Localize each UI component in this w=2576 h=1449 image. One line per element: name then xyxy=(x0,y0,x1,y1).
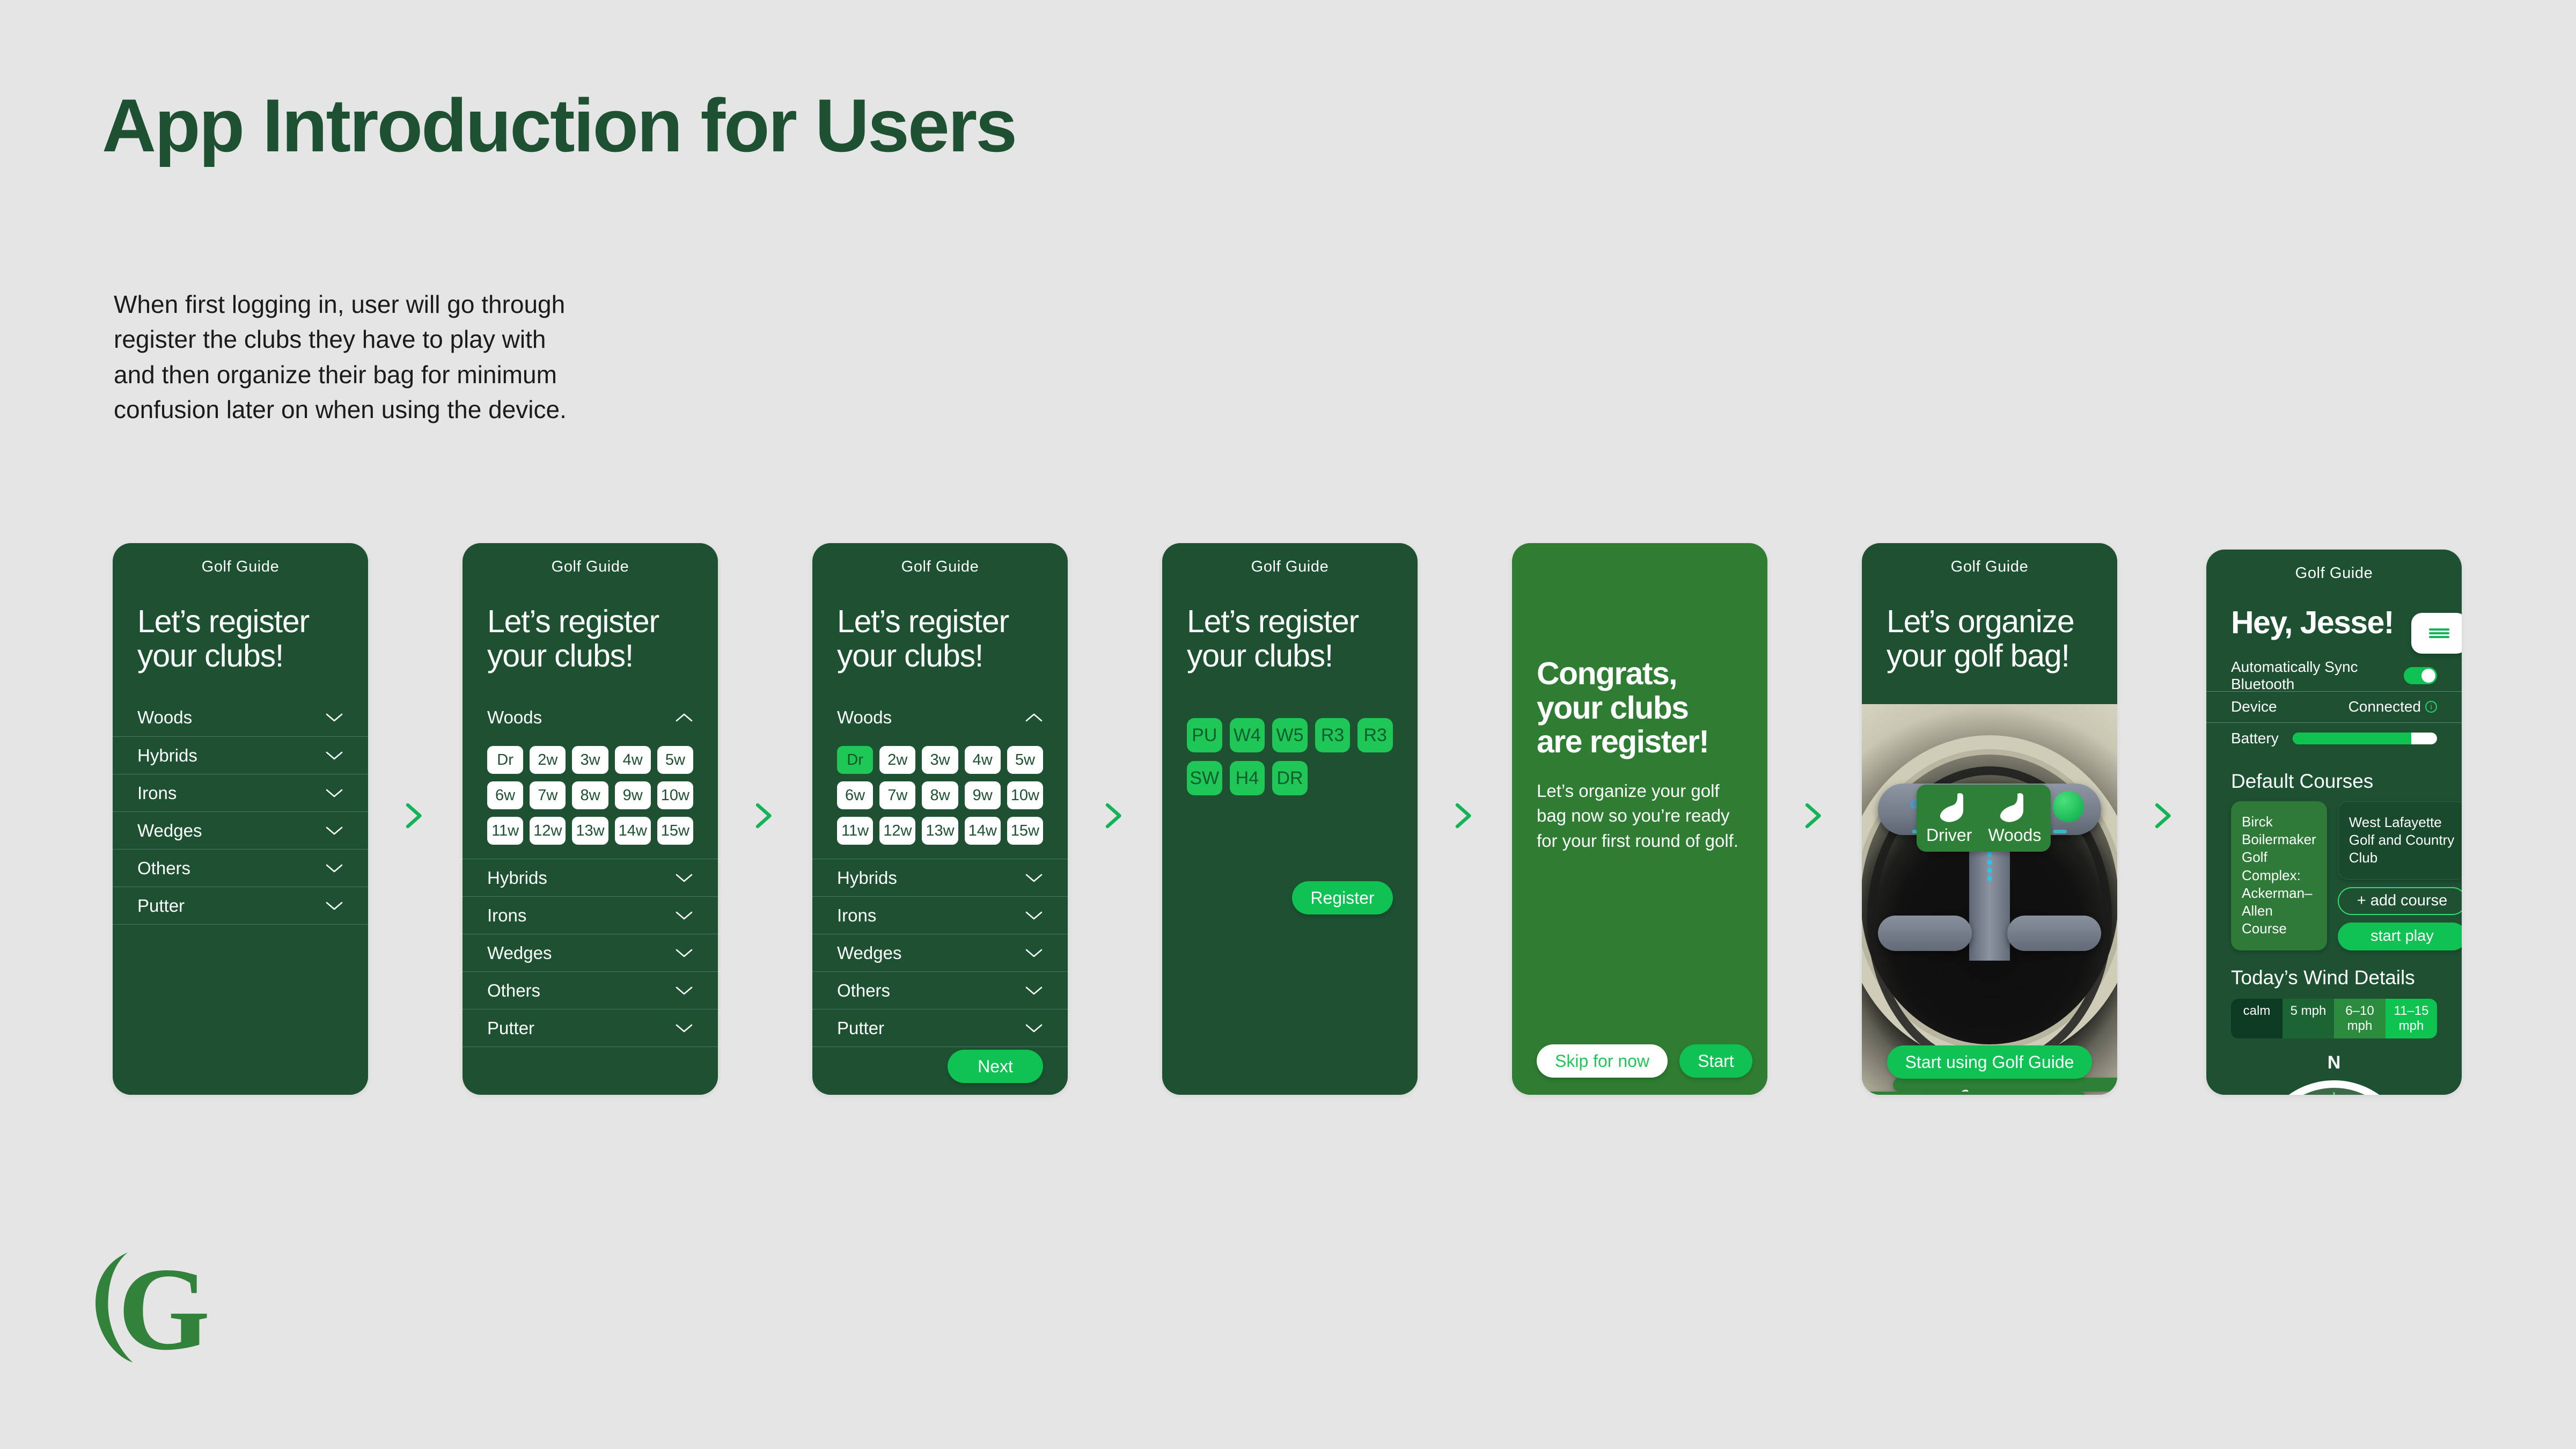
add-course-button[interactable]: + add course xyxy=(2338,887,2462,915)
club-chip-7w[interactable]: 7w xyxy=(879,781,915,809)
club-chip-11w[interactable]: 11w xyxy=(487,817,523,845)
club-chip-12w[interactable]: 12w xyxy=(530,817,566,845)
accordion-item-putter[interactable]: Putter xyxy=(812,1009,1068,1046)
wind-scale-segment: 11–15 mph xyxy=(2386,999,2437,1038)
chevron-down-icon[interactable] xyxy=(675,985,693,996)
heading-line-3: are register! xyxy=(1537,725,1743,759)
chevron-down-icon[interactable] xyxy=(675,910,693,921)
accordion-item-putter[interactable]: Putter xyxy=(463,1009,718,1046)
row-label: Device xyxy=(2231,698,2277,715)
accordion-item-irons[interactable]: Irons xyxy=(463,896,718,934)
flow-arrow-1 xyxy=(397,800,429,832)
accordion-label: Woods xyxy=(837,707,892,728)
club-chip-4w[interactable]: 4w xyxy=(965,746,1001,774)
woods-chip-grid: Dr2w3w4w5w6w7w8w9w10w11w12w13w14w15w xyxy=(812,736,1068,859)
course-card-secondary[interactable]: West Lafayette Golf and Country Club xyxy=(2338,801,2462,880)
selected-club-chip[interactable]: R3 xyxy=(1357,718,1393,752)
club-category-accordion: Woods Dr2w3w4w5w6w7w8w9w10w11w12w13w14w1… xyxy=(812,699,1068,1051)
heading-line-1: Congrats, xyxy=(1537,657,1743,691)
screen-heading: Let’s register your clubs! xyxy=(1162,576,1418,673)
device-settings-list: Automatically Sync Bluetooth Device Conn… xyxy=(2206,661,2462,754)
club-chip-2w[interactable]: 2w xyxy=(530,746,566,774)
heading-line-1: Let’s register xyxy=(837,605,1043,639)
accordion-divider xyxy=(463,1046,718,1051)
intro-paragraph: When first logging in, user will go thro… xyxy=(114,287,650,427)
flow-arrow-6 xyxy=(2146,800,2178,832)
accordion-item-woods[interactable]: Woods xyxy=(113,699,368,736)
club-chip-14w[interactable]: 14w xyxy=(615,817,651,845)
chevron-down-icon[interactable] xyxy=(325,712,343,723)
selected-club-chip[interactable]: W4 xyxy=(1230,718,1265,752)
default-courses-title: Default Courses xyxy=(2206,754,2462,793)
course-card-primary[interactable]: Birck Boilermaker Golf Complex: Ackerman… xyxy=(2231,801,2327,950)
default-courses-list: Birck Boilermaker Golf Complex: Ackerman… xyxy=(2206,793,2462,950)
club-chip-11w[interactable]: 11w xyxy=(837,817,873,845)
screen-heading: Congrats, your clubs are register! xyxy=(1512,543,1767,759)
screen-dashboard: Golf Guide Hey, Jesse! Automatically Syn… xyxy=(2206,550,2462,1095)
selected-club-chip[interactable]: H4 xyxy=(1230,761,1265,795)
club-chip-8w[interactable]: 8w xyxy=(922,781,958,809)
start-button[interactable]: Start xyxy=(1679,1044,1752,1078)
wind-details-title: Today’s Wind Details xyxy=(2206,950,2462,989)
club-category-accordion: Woods Hybrids Irons Wedges Others Putter xyxy=(113,699,368,928)
screen-register-woods-open: Golf Guide Let’s register your clubs! Wo… xyxy=(463,543,718,1095)
accordion-item-others[interactable]: Others xyxy=(463,971,718,1009)
club-chip-14w[interactable]: 14w xyxy=(965,817,1001,845)
wind-compass: N xyxy=(2254,1052,2414,1095)
chevron-up-icon[interactable] xyxy=(1025,712,1043,723)
accordion-label: Irons xyxy=(137,783,177,803)
club-chip-15w[interactable]: 15w xyxy=(657,817,693,845)
club-chip-5w[interactable]: 5w xyxy=(1007,746,1043,774)
bag-tile-long-irons[interactable]: Long 1–4 Irons xyxy=(1893,1078,2117,1092)
screen-heading: Let’s register your clubs! xyxy=(463,576,718,673)
club-category-accordion: Woods Dr2w3w4w5w6w7w8w9w10w11w12w13w14w1… xyxy=(463,699,718,1051)
selected-clubs-grid: PUW4W5R3R3SWH4DR xyxy=(1162,718,1418,795)
flow-arrow-2 xyxy=(747,800,779,832)
row-auto-sync-bluetooth[interactable]: Automatically Sync Bluetooth xyxy=(2206,661,2462,692)
chevron-down-icon[interactable] xyxy=(1025,910,1043,921)
club-chip-3w[interactable]: 3w xyxy=(922,746,958,774)
chevron-down-icon[interactable] xyxy=(675,948,693,958)
page-title: App Introduction for Users xyxy=(102,86,1016,165)
accordion-label: Hybrids xyxy=(137,745,197,766)
club-chip-dr[interactable]: Dr xyxy=(487,746,523,774)
club-chip-9w[interactable]: 9w xyxy=(965,781,1001,809)
club-chip-15w[interactable]: 15w xyxy=(1007,817,1043,845)
start-play-button[interactable]: start play xyxy=(2338,923,2462,950)
screen-heading: Let’s register your clubs! xyxy=(113,576,368,673)
club-chip-5w[interactable]: 5w xyxy=(657,746,693,774)
intro-line-3: and then organize their bag for minimum xyxy=(114,357,650,392)
heading-line-1: Let’s register xyxy=(137,605,343,639)
bag-tile-label: Woods xyxy=(1988,825,2041,845)
accordion-divider xyxy=(113,924,368,928)
club-chip-2w[interactable]: 2w xyxy=(879,746,915,774)
accordion-item-irons[interactable]: Irons xyxy=(113,774,368,811)
chevron-down-icon[interactable] xyxy=(1025,948,1043,958)
accordion-label: Putter xyxy=(137,896,185,916)
heading-line-1: Let’s register xyxy=(487,605,693,639)
accordion-label: Hybrids xyxy=(837,868,897,888)
compass-north-label: N xyxy=(2254,1052,2414,1073)
bluetooth-sync-toggle[interactable] xyxy=(2404,667,2437,684)
heading-line-1: Let’s organize xyxy=(1887,605,2093,639)
club-chip-13w[interactable]: 13w xyxy=(572,817,608,845)
wind-speed-scale: calm5 mph6–10 mph11–15 mph xyxy=(2231,999,2437,1038)
skip-for-now-button[interactable]: Skip for now xyxy=(1537,1044,1668,1078)
accordion-label: Irons xyxy=(487,905,526,926)
bag-tile-driver-woods[interactable]: Driver Woods xyxy=(1917,785,2051,852)
accordion-label: Woods xyxy=(487,707,542,728)
accordion-item-irons[interactable]: Irons xyxy=(812,896,1068,934)
selected-club-chip[interactable]: W5 xyxy=(1272,718,1308,752)
chevron-down-icon[interactable] xyxy=(1025,873,1043,883)
intro-line-1: When first logging in, user will go thro… xyxy=(114,287,650,322)
accordion-label: Irons xyxy=(837,905,876,926)
chevron-down-icon[interactable] xyxy=(1025,985,1043,996)
accordion-item-putter[interactable]: Putter xyxy=(113,887,368,924)
app-brand-label: Golf Guide xyxy=(2206,550,2462,582)
wind-scale-segment: 6–10 mph xyxy=(2334,999,2386,1038)
flow-arrow-5 xyxy=(1796,800,1829,832)
driver-club-icon xyxy=(1935,792,1972,825)
accordion-label: Wedges xyxy=(137,821,202,841)
wind-scale-segment: calm xyxy=(2231,999,2283,1038)
intro-line-4: confusion later on when using the device… xyxy=(114,392,650,427)
chevron-down-icon[interactable] xyxy=(325,750,343,761)
screen-register-summary: Golf Guide Let’s register your clubs! PU… xyxy=(1162,543,1418,1095)
accordion-label: Hybrids xyxy=(487,868,547,888)
wood-club-icon xyxy=(1995,792,2032,825)
heading-line-2: your clubs! xyxy=(487,639,693,674)
accordion-item-hybrids[interactable]: Hybrids xyxy=(463,859,718,896)
selected-club-chip[interactable]: R3 xyxy=(1315,718,1351,752)
screen-heading: Let’s register your clubs! xyxy=(812,576,1068,673)
app-brand-label: Golf Guide xyxy=(463,543,718,576)
app-brand-label: Golf Guide xyxy=(113,543,368,576)
screen-register-woods-selected: Golf Guide Let’s register your clubs! Wo… xyxy=(812,543,1068,1095)
accordion-label: Others xyxy=(137,858,190,879)
club-chip-10w[interactable]: 10w xyxy=(1007,781,1043,809)
club-chip-8w[interactable]: 8w xyxy=(572,781,608,809)
selected-club-chip[interactable]: SW xyxy=(1187,761,1222,795)
accordion-label: Others xyxy=(487,980,540,1001)
poster-canvas: App Introduction for Users When first lo… xyxy=(0,0,2576,1449)
club-chip-13w[interactable]: 13w xyxy=(922,817,958,845)
accordion-item-wedges[interactable]: Wedges xyxy=(812,934,1068,971)
accordion-item-hybrids[interactable]: Hybrids xyxy=(812,859,1068,896)
accordion-item-others[interactable]: Others xyxy=(812,971,1068,1009)
screen-heading: Let’s organize your golf bag! xyxy=(1862,576,2117,673)
heading-line-2: your golf bag! xyxy=(1887,639,2093,674)
accordion-label: Wedges xyxy=(487,943,552,963)
heading-line-2: your clubs! xyxy=(1187,639,1393,674)
start-using-golf-guide-button[interactable]: Start using Golf Guide xyxy=(1887,1045,2093,1079)
accordion-label: Putter xyxy=(837,1018,884,1038)
screen-congrats: Congrats, your clubs are register! Let’s… xyxy=(1512,543,1767,1095)
svg-text:G: G xyxy=(118,1245,209,1368)
accordion-item-hybrids[interactable]: Hybrids xyxy=(113,736,368,774)
register-button[interactable]: Register xyxy=(1292,881,1393,914)
compass-dial xyxy=(2256,1080,2412,1095)
accordion-label: Woods xyxy=(137,707,192,728)
chevron-down-icon[interactable] xyxy=(675,873,693,883)
next-button[interactable]: Next xyxy=(948,1050,1043,1083)
wind-scale-segment: 5 mph xyxy=(2283,999,2334,1038)
club-chip-9w[interactable]: 9w xyxy=(615,781,651,809)
accordion-item-others[interactable]: Others xyxy=(113,849,368,887)
accordion-item-wedges[interactable]: Wedges xyxy=(463,934,718,971)
chevron-down-icon[interactable] xyxy=(675,1023,693,1034)
heading-line-2: your clubs xyxy=(1537,691,1743,726)
selected-club-chip[interactable]: DR xyxy=(1272,761,1308,795)
club-chip-6w[interactable]: 6w xyxy=(487,781,523,809)
club-chip-6w[interactable]: 6w xyxy=(837,781,873,809)
row-device-status[interactable]: Device Connected i xyxy=(2206,692,2462,723)
row-label: Battery xyxy=(2231,730,2279,747)
brand-logo: G xyxy=(86,1245,209,1368)
chevron-down-icon[interactable] xyxy=(325,901,343,911)
chevron-down-icon[interactable] xyxy=(1025,1023,1043,1034)
accordion-label: Others xyxy=(837,980,890,1001)
intro-line-2: register the clubs they have to play wit… xyxy=(114,322,650,357)
club-chip-3w[interactable]: 3w xyxy=(572,746,608,774)
app-brand-label: Golf Guide xyxy=(1862,543,2117,576)
battery-progress-bar xyxy=(2293,733,2437,744)
green-indicator-icon xyxy=(2053,791,2084,822)
bag-tile-label: Driver xyxy=(1926,825,1972,845)
club-chip-7w[interactable]: 7w xyxy=(530,781,566,809)
flow-arrow-3 xyxy=(1097,800,1129,832)
screen-register-collapsed: Golf Guide Let’s register your clubs! Wo… xyxy=(113,543,368,1095)
congrats-body-text: Let’s organize your golf bag now so you’… xyxy=(1512,759,1767,853)
app-brand-label: Golf Guide xyxy=(1162,543,1418,576)
chevron-down-icon[interactable] xyxy=(325,825,343,836)
accordion-item-wedges[interactable]: Wedges xyxy=(113,811,368,849)
accordion-label: Putter xyxy=(487,1018,534,1038)
chevron-down-icon[interactable] xyxy=(325,788,343,799)
hamburger-menu-icon[interactable] xyxy=(2411,613,2462,654)
club-chip-dr[interactable]: Dr xyxy=(837,746,873,774)
club-chip-4w[interactable]: 4w xyxy=(615,746,651,774)
heading-line-1: Let’s register xyxy=(1187,605,1393,639)
device-status-value: Connected xyxy=(2349,698,2421,715)
accordion-item-woods[interactable]: Woods xyxy=(463,699,718,736)
golf-bag-photo: Golf Guide 03 xyxy=(1862,704,2117,1095)
selected-club-chip[interactable]: PU xyxy=(1187,718,1222,752)
row-battery: Battery xyxy=(2206,723,2462,754)
club-chip-12w[interactable]: 12w xyxy=(879,817,915,845)
club-chip-10w[interactable]: 10w xyxy=(657,781,693,809)
flow-arrow-4 xyxy=(1447,800,1479,832)
chevron-down-icon[interactable] xyxy=(325,863,343,874)
accordion-item-woods[interactable]: Woods xyxy=(812,699,1068,736)
woods-chip-grid: Dr2w3w4w5w6w7w8w9w10w11w12w13w14w15w xyxy=(463,736,718,859)
screen-organize-bag: Golf Guide 03 Golf Guide Let’s organize … xyxy=(1862,543,2117,1095)
row-label: Automatically Sync Bluetooth xyxy=(2231,658,2404,693)
heading-line-2: your clubs! xyxy=(137,639,343,674)
chevron-up-icon[interactable] xyxy=(675,712,693,723)
heading-line-2: your clubs! xyxy=(837,639,1043,674)
app-brand-label: Golf Guide xyxy=(812,543,1068,576)
accordion-label: Wedges xyxy=(837,943,901,963)
info-icon[interactable]: i xyxy=(2425,701,2437,713)
